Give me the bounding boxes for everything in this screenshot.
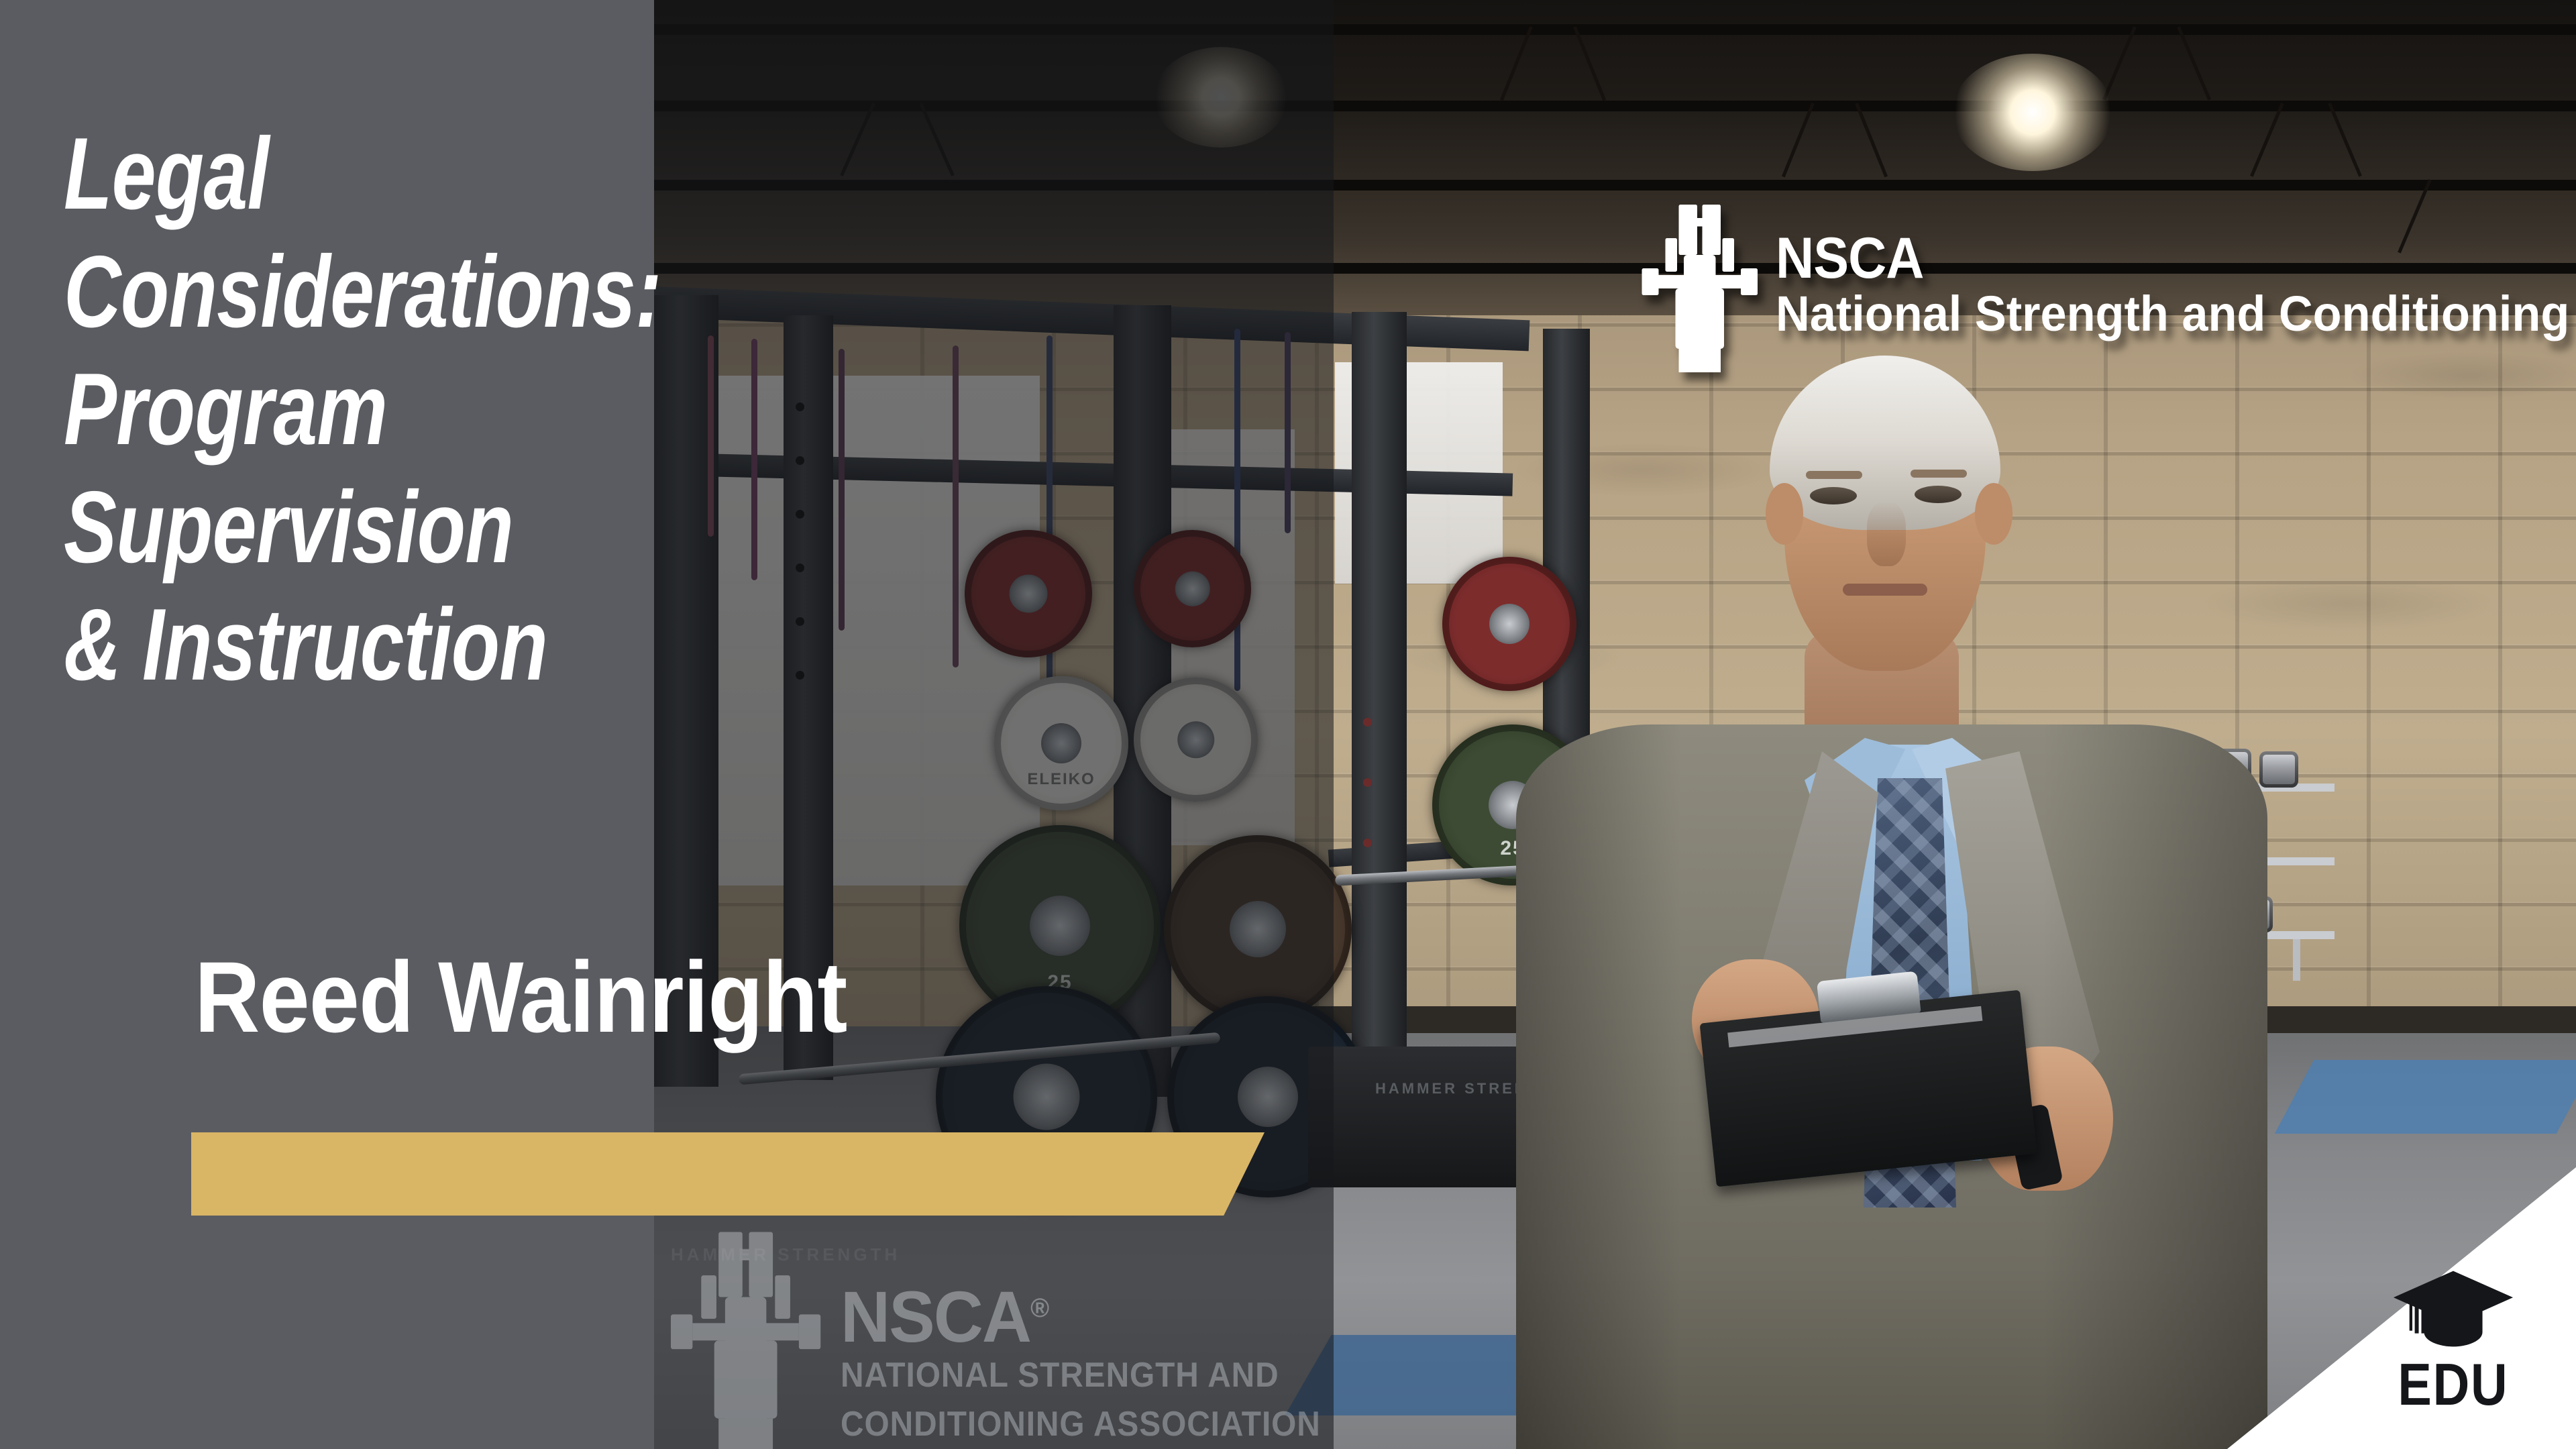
watermark-acronym: NSCA® xyxy=(841,1287,1336,1348)
rack-hole xyxy=(1363,839,1372,847)
gold-accent-bar xyxy=(191,1132,1265,1216)
weightlifter-icon xyxy=(661,1228,828,1449)
rack-upright xyxy=(1352,312,1407,1070)
truss-brace xyxy=(1855,103,1888,177)
truss-brace xyxy=(2328,103,2362,177)
slide-title: Legal Considerations: Program Supervisio… xyxy=(64,115,901,704)
ear xyxy=(1975,483,2012,545)
clipboard-print xyxy=(1754,1093,1764,1116)
rack-leg xyxy=(2293,939,2300,981)
mouth xyxy=(1843,584,1927,596)
graduation-cap-icon xyxy=(2390,1265,2517,1351)
eyebrow xyxy=(1911,470,1967,478)
presenter-name: Reed Wainright xyxy=(195,939,847,1055)
eye xyxy=(1915,486,1962,503)
ear xyxy=(1766,483,1803,545)
clipboard xyxy=(1700,990,2037,1187)
eye xyxy=(1810,487,1857,504)
registered-mark-icon: ® xyxy=(1030,1293,1049,1323)
truss-brace xyxy=(2102,26,2137,101)
truss-brace xyxy=(2250,103,2284,177)
eyebrow xyxy=(1806,471,1862,479)
watermark-acronym-letters: NSCA xyxy=(841,1276,1030,1357)
rack-hole xyxy=(1363,778,1372,787)
nsca-watermark: NSCA® NATIONAL STRENGTH AND CONDITIONING… xyxy=(661,1228,1362,1449)
truss-brace xyxy=(1573,26,1606,101)
nose xyxy=(1867,502,1906,566)
watermark-line2: CONDITIONING ASSOCIATION xyxy=(841,1403,1321,1446)
truss-brace xyxy=(1782,103,1815,177)
ceiling-light xyxy=(1952,54,2113,171)
floor-marking xyxy=(2275,1060,2576,1134)
watermark-line1: NATIONAL STRENGTH AND xyxy=(841,1354,1321,1397)
wall-sign-acronym: NSCA xyxy=(1776,233,2544,284)
watermark-text: NSCA® NATIONAL STRENGTH AND CONDITIONING… xyxy=(841,1228,1362,1446)
edu-label: EDU xyxy=(2398,1355,2509,1414)
presenter-figure xyxy=(1516,315,2267,1449)
edu-badge: EDU xyxy=(2369,1265,2537,1414)
truss-brace xyxy=(1500,26,1533,101)
truss-brace xyxy=(2177,26,2211,101)
rack-hole xyxy=(1363,718,1372,727)
video-title-card: ELEIKO 25 45 25 HAMMER STRENGTH H xyxy=(0,0,2576,1449)
